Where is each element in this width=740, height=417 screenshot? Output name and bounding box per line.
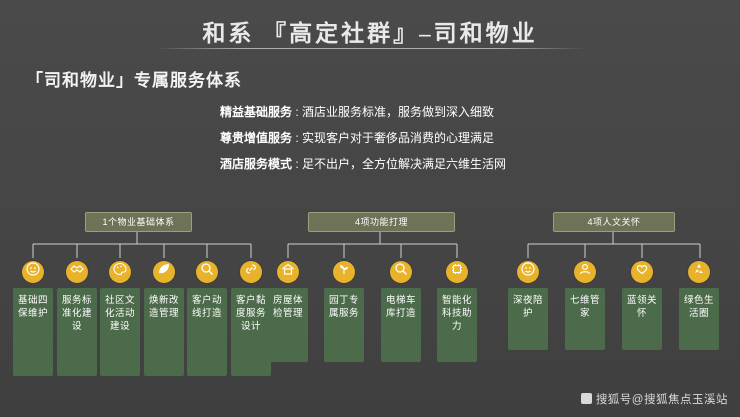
item-label-8: 电梯车库打造 — [386, 295, 416, 319]
bullet-item: 酒店服务模式 : 足不出户，全方位解决满足六维生活网 — [190, 155, 710, 172]
item-label-3: 焕新改造管理 — [149, 295, 179, 319]
item-12[interactable]: 蓝领关怀 — [622, 258, 662, 283]
item-card-3[interactable]: 焕新改造管理 — [144, 288, 184, 376]
group-header-2: 4项人文关怀 — [553, 212, 675, 232]
item-card-0[interactable]: 基础四保维护 — [13, 288, 53, 376]
item-0[interactable]: 基础四保维护 — [13, 258, 53, 283]
group-header-0: 1个物业基础体系 — [85, 212, 192, 232]
item-label-10: 深夜陪护 — [513, 295, 543, 319]
group-header-1: 4项功能打理 — [308, 212, 455, 232]
item-card-1[interactable]: 服务标准化建设 — [57, 288, 97, 376]
heart-icon — [631, 261, 653, 283]
person-icon — [574, 261, 596, 283]
item-1[interactable]: 服务标准化建设 — [57, 258, 97, 283]
item-label-4: 客户动线打造 — [192, 295, 222, 319]
item-4[interactable]: 客户动线打造 — [187, 258, 227, 283]
bullet-label: 尊贵增值服务 — [190, 129, 292, 146]
watermark-logo-icon — [581, 393, 592, 404]
item-card-5[interactable]: 客户黏度服务设计 — [231, 288, 271, 376]
item-label-0: 基础四保维护 — [18, 295, 48, 319]
bullet-separator: : — [292, 105, 302, 119]
item-card-9[interactable]: 智能化科技助力 — [437, 288, 477, 362]
bullet-item: 精益基础服务 : 酒店业服务标准，服务做到深入细致 — [190, 103, 710, 120]
item-6[interactable]: 房屋体检管理 — [268, 258, 308, 283]
item-label-5: 客户黏度服务设计 — [236, 295, 266, 332]
plant-icon — [333, 261, 355, 283]
smiley-icon — [517, 261, 539, 283]
item-card-10[interactable]: 深夜陪护 — [508, 288, 548, 350]
bullet-label: 酒店服务模式 — [190, 155, 292, 172]
leaf-icon — [153, 261, 175, 283]
bullet-separator: : — [292, 157, 302, 171]
slide-canvas: 和系 『高定社群』–司和物业 「司和物业」专属服务体系 精益基础服务 : 酒店业… — [0, 0, 740, 417]
bullet-text: 实现客户对于奢侈品消费的心理满足 — [302, 129, 494, 146]
search-icon — [196, 261, 218, 283]
title-divider — [155, 48, 585, 49]
item-card-7[interactable]: 园丁专属服务 — [324, 288, 364, 362]
item-label-12: 蓝领关怀 — [627, 295, 657, 319]
page-title: 和系 『高定社群』–司和物业 — [0, 14, 740, 48]
item-10[interactable]: 深夜陪护 — [508, 258, 548, 283]
item-13[interactable]: 绿色生活圈 — [679, 258, 719, 283]
item-3[interactable]: 焕新改造管理 — [144, 258, 184, 283]
bullet-item: 尊贵增值服务 : 实现客户对于奢侈品消费的心理满足 — [190, 129, 710, 146]
item-card-11[interactable]: 七维管家 — [565, 288, 605, 350]
bullet-list: 精益基础服务 : 酒店业服务标准，服务做到深入细致 尊贵增值服务 : 实现客户对… — [190, 103, 710, 181]
smiley-icon — [22, 261, 44, 283]
bullet-label: 精益基础服务 — [190, 103, 292, 120]
item-label-2: 社区文化活动建设 — [105, 295, 135, 332]
elevator-icon — [390, 261, 412, 283]
handshake-icon — [66, 261, 88, 283]
section-title: 「司和物业」专属服务体系 — [26, 66, 242, 91]
link-icon — [240, 261, 262, 283]
item-9[interactable]: 智能化科技助力 — [437, 258, 477, 283]
item-label-6: 房屋体检管理 — [273, 295, 303, 319]
item-card-2[interactable]: 社区文化活动建设 — [100, 288, 140, 376]
item-label-11: 七维管家 — [570, 295, 600, 319]
recycle-icon — [688, 261, 710, 283]
item-8[interactable]: 电梯车库打造 — [381, 258, 421, 283]
item-7[interactable]: 园丁专属服务 — [324, 258, 364, 283]
item-card-13[interactable]: 绿色生活圈 — [679, 288, 719, 350]
item-5[interactable]: 客户黏度服务设计 — [231, 258, 271, 283]
watermark-text: 搜狐号@搜狐焦点玉溪站 — [596, 394, 728, 406]
item-label-13: 绿色生活圈 — [684, 295, 714, 319]
bullet-text: 酒店业服务标准，服务做到深入细致 — [302, 103, 494, 120]
house-icon — [277, 261, 299, 283]
item-11[interactable]: 七维管家 — [565, 258, 605, 283]
bullet-separator: : — [292, 131, 302, 145]
item-2[interactable]: 社区文化活动建设 — [100, 258, 140, 283]
item-card-4[interactable]: 客户动线打造 — [187, 288, 227, 376]
item-card-6[interactable]: 房屋体检管理 — [268, 288, 308, 362]
item-label-7: 园丁专属服务 — [329, 295, 359, 319]
item-card-8[interactable]: 电梯车库打造 — [381, 288, 421, 362]
item-label-1: 服务标准化建设 — [62, 295, 92, 332]
item-label-9: 智能化科技助力 — [442, 295, 472, 332]
chip-icon — [446, 261, 468, 283]
watermark: 搜狐号@搜狐焦点玉溪站 — [581, 391, 728, 407]
item-card-12[interactable]: 蓝领关怀 — [622, 288, 662, 350]
palette-icon — [109, 261, 131, 283]
bullet-text: 足不出户，全方位解决满足六维生活网 — [302, 155, 506, 172]
